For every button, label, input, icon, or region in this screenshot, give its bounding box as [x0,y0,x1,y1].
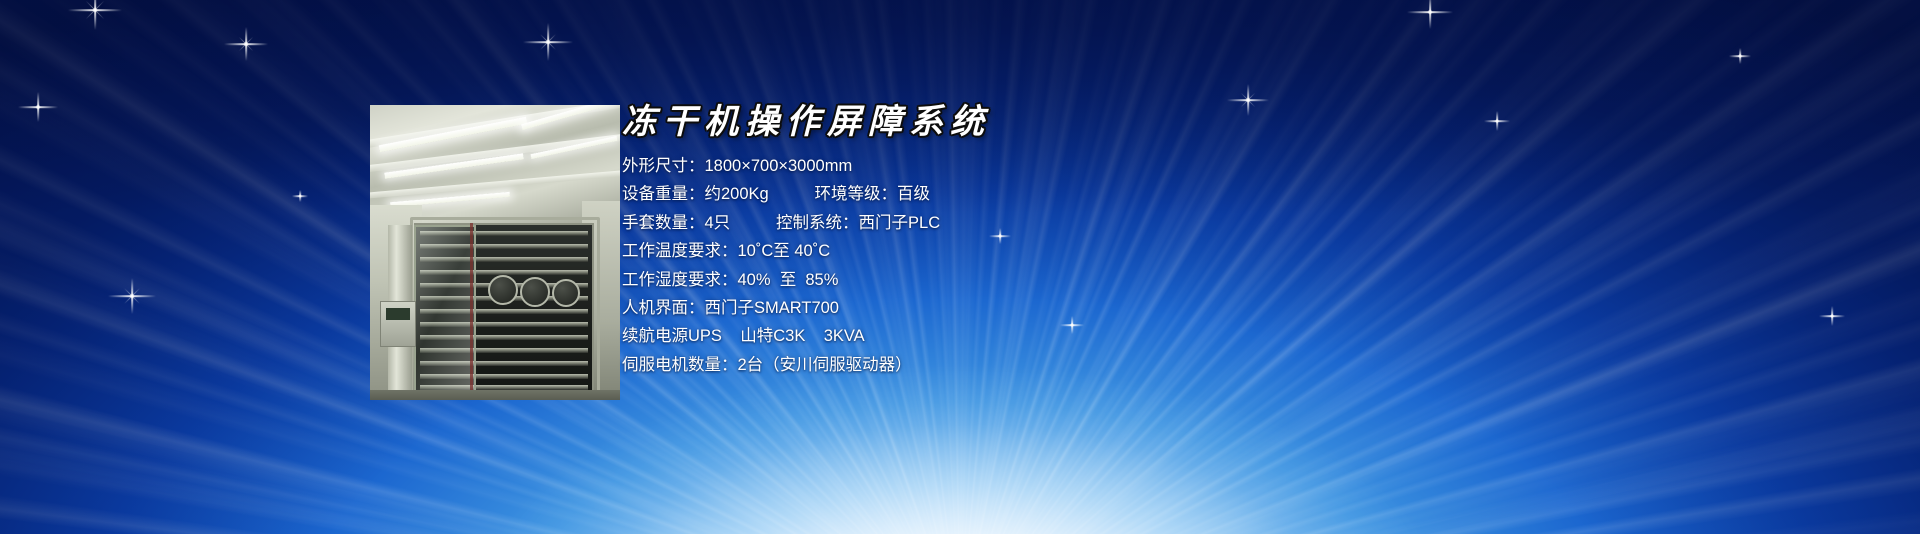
spec-line-humidity: 工作湿度要求：40% 至 85% [622,266,1342,294]
photo-floor [370,390,620,400]
product-photo [370,105,620,400]
photo-glove-port [552,279,580,307]
photo-glove-port [520,277,550,307]
photo-glass-door [414,225,476,397]
photo-control-panel [380,301,416,347]
spec-line-gloves-plc: 手套数量：4只 控制系统：西门子PLC [622,209,1342,237]
spec-line-ups: 续航电源UPS 山特C3K 3KVA [622,322,1342,350]
spec-line-hmi: 人机界面：西门子SMART700 [622,294,1342,322]
spec-line-temperature: 工作温度要求：10˚C至 40˚C [622,237,1342,265]
spec-line-dimensions: 外形尺寸：1800×700×3000mm [622,152,1342,180]
spec-line-servo-motor: 伺服电机数量：2台（安川伺服驱动器） [622,351,1342,379]
spec-line-weight-grade: 设备重量：约200Kg 环境等级：百级 [622,180,1342,208]
product-banner: 冻干机操作屏障系统 外形尺寸：1800×700×3000mm 设备重量：约200… [0,0,1920,534]
banner-text-block: 冻干机操作屏障系统 外形尺寸：1800×700×3000mm 设备重量：约200… [622,102,1342,379]
photo-glove-port [488,275,518,305]
page-title: 冻干机操作屏障系统 [622,102,1342,142]
photo-door-edge [470,223,473,395]
